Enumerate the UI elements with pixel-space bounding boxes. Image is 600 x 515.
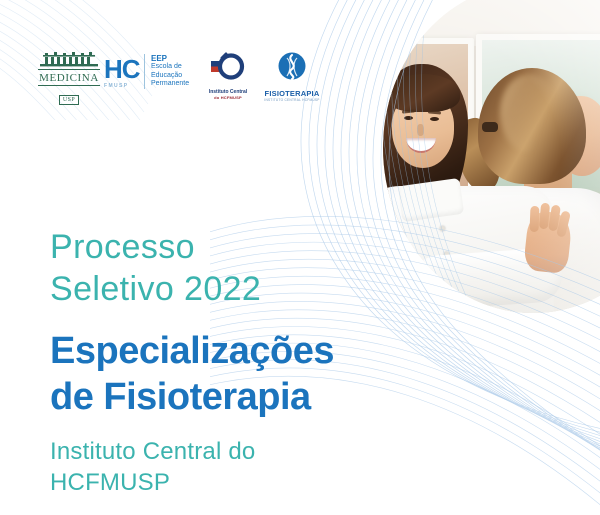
logo-instituto-central: Instituto Central do HCFMUSP xyxy=(200,52,256,100)
headline-text: Especializações de Fisioterapia xyxy=(50,328,334,420)
usp-mark: USP xyxy=(59,95,79,105)
subline-text: Instituto Central do HCFMUSP xyxy=(50,436,255,498)
fisioterapia-wordmark: FISIOTERAPIA xyxy=(260,89,324,98)
medicina-building-icon xyxy=(38,52,100,68)
logo-bar: MEDICINA USP HC FMUSP EEP Escola de Educ… xyxy=(38,48,328,102)
photo-line-texture xyxy=(348,0,600,320)
banner: MEDICINA USP HC FMUSP EEP Escola de Educ… xyxy=(0,0,600,515)
fisioterapia-sub: INSTITUTO CENTRAL HCFMUSP xyxy=(260,98,324,102)
photo-hero xyxy=(348,0,600,320)
therapy-photo xyxy=(348,0,600,320)
medicina-wordmark: MEDICINA xyxy=(38,72,100,84)
instituto-central-ring-icon xyxy=(200,52,256,82)
fisioterapia-spine-icon xyxy=(260,52,324,82)
logo-fisioterapia: FISIOTERAPIA INSTITUTO CENTRAL HCFMUSP xyxy=(260,52,324,102)
logo-medicina-usp: MEDICINA USP xyxy=(38,52,100,106)
instituto-central-line-2: do HCFMUSP xyxy=(200,95,256,100)
eyebrow-text: Processo Seletivo 2022 xyxy=(50,226,261,310)
